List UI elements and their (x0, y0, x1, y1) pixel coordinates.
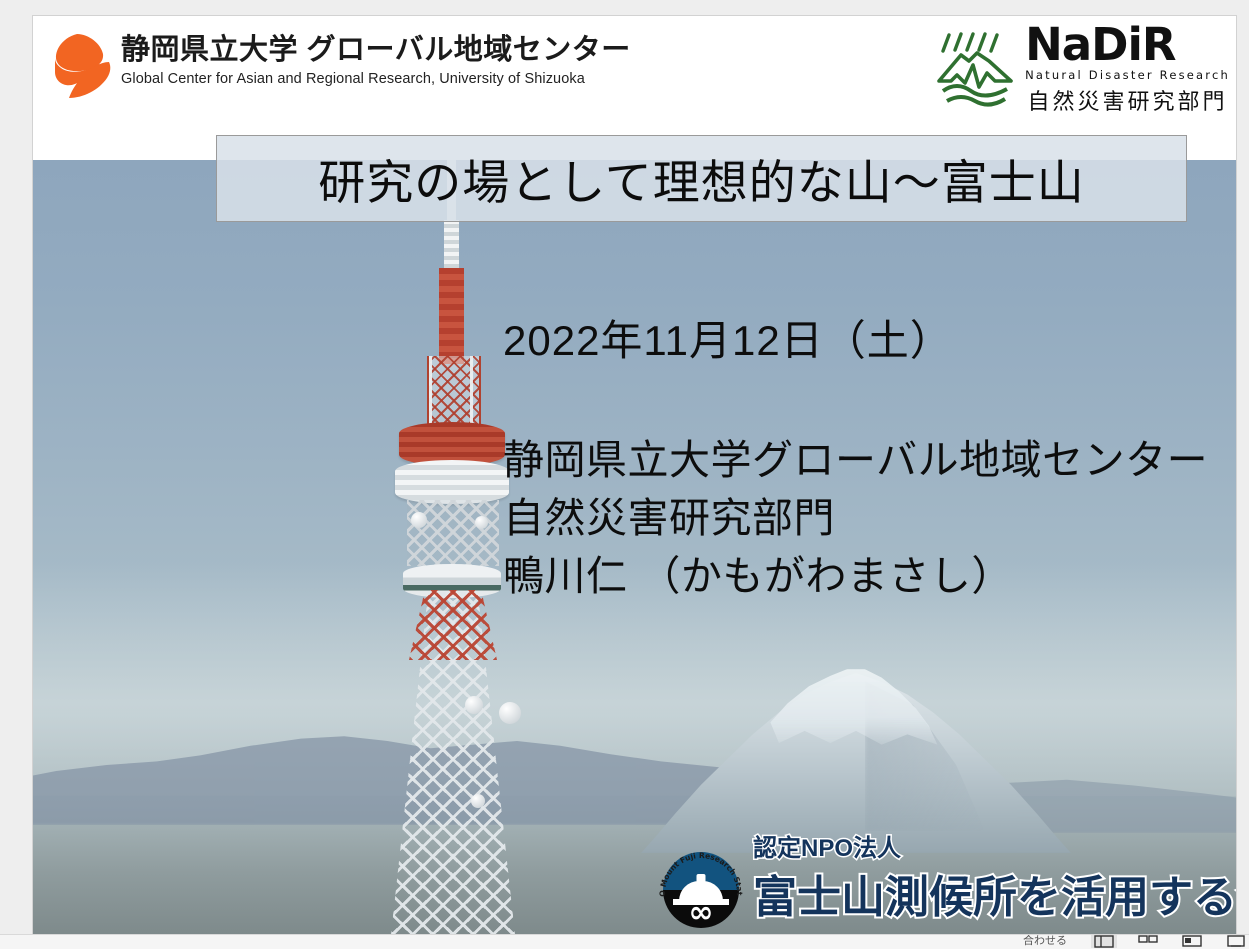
reading-view-button[interactable] (1179, 935, 1205, 948)
fuji-observatory-binoculars-icon: ∞ NPO Mount Fuji Research Station (653, 842, 749, 935)
title-placeholder[interactable]: 研究の場として理想的な山～富士山 (216, 135, 1187, 222)
university-wordmark: 静岡県立大学 グローバル地域センター Global Center for Asi… (121, 34, 631, 87)
powerpoint-slide-window: 静岡県立大学 グローバル地域センター Global Center for Asi… (0, 0, 1249, 949)
affiliation-block: 静岡県立大学グローバル地域センター 自然災害研究部門 鴨川仁 （かもがわまさし） (503, 431, 1208, 606)
slide-sorter-button[interactable] (1135, 935, 1161, 948)
svg-text:NPO Mount Fuji Research Statio: NPO Mount Fuji Research Station (653, 842, 744, 897)
shizuoka-leaf-logo (43, 32, 115, 102)
slide-title: 研究の場として理想的な山～富士山 (318, 144, 1085, 213)
npo-line-2: 富士山測候所を活用する会 (753, 861, 1236, 925)
slideshow-button[interactable] (1223, 935, 1249, 948)
npo-logo: ∞ NPO Mount Fuji Research Station 認定NPO法… (653, 828, 1236, 935)
nadir-name: NaDiR (1025, 24, 1230, 67)
affiliation-line-2: 自然災害研究部門 (503, 489, 1208, 547)
zoom-fit-label[interactable]: 合わせる (1023, 935, 1067, 947)
nadir-logo: NaDiR Natural Disaster Research 自然災害研究部門 (933, 26, 1230, 114)
slide-canvas[interactable]: 静岡県立大学 グローバル地域センター Global Center for Asi… (33, 16, 1236, 935)
normal-view-button[interactable] (1091, 935, 1117, 948)
slideshow-icon (1226, 935, 1246, 948)
slide-sorter-icon (1138, 935, 1158, 948)
body-text-placeholder[interactable]: 2022年11月12日（土） 静岡県立大学グローバル地域センター 自然災害研究部… (503, 307, 1208, 606)
npo-line-1: 認定NPO法人 (753, 828, 1236, 863)
nadir-name-jp: 自然災害研究部門 (1025, 84, 1230, 116)
mount-fuji-icon (641, 663, 1071, 853)
normal-view-icon (1094, 935, 1114, 948)
status-bar: 合わせる (0, 934, 1249, 949)
university-name-jp: 静岡県立大学 グローバル地域センター (121, 34, 631, 67)
reading-view-icon (1182, 935, 1202, 948)
university-name-en: Global Center for Asian and Regional Res… (121, 71, 631, 87)
presentation-date: 2022年11月12日（土） (503, 307, 1208, 368)
volcano-rain-wave-icon (933, 31, 1017, 109)
affiliation-line-1: 静岡県立大学グローバル地域センター (503, 431, 1208, 489)
presenter-name: 鴨川仁 （かもがわまさし） (503, 547, 1208, 605)
nadir-subtitle: Natural Disaster Research (1025, 68, 1230, 82)
